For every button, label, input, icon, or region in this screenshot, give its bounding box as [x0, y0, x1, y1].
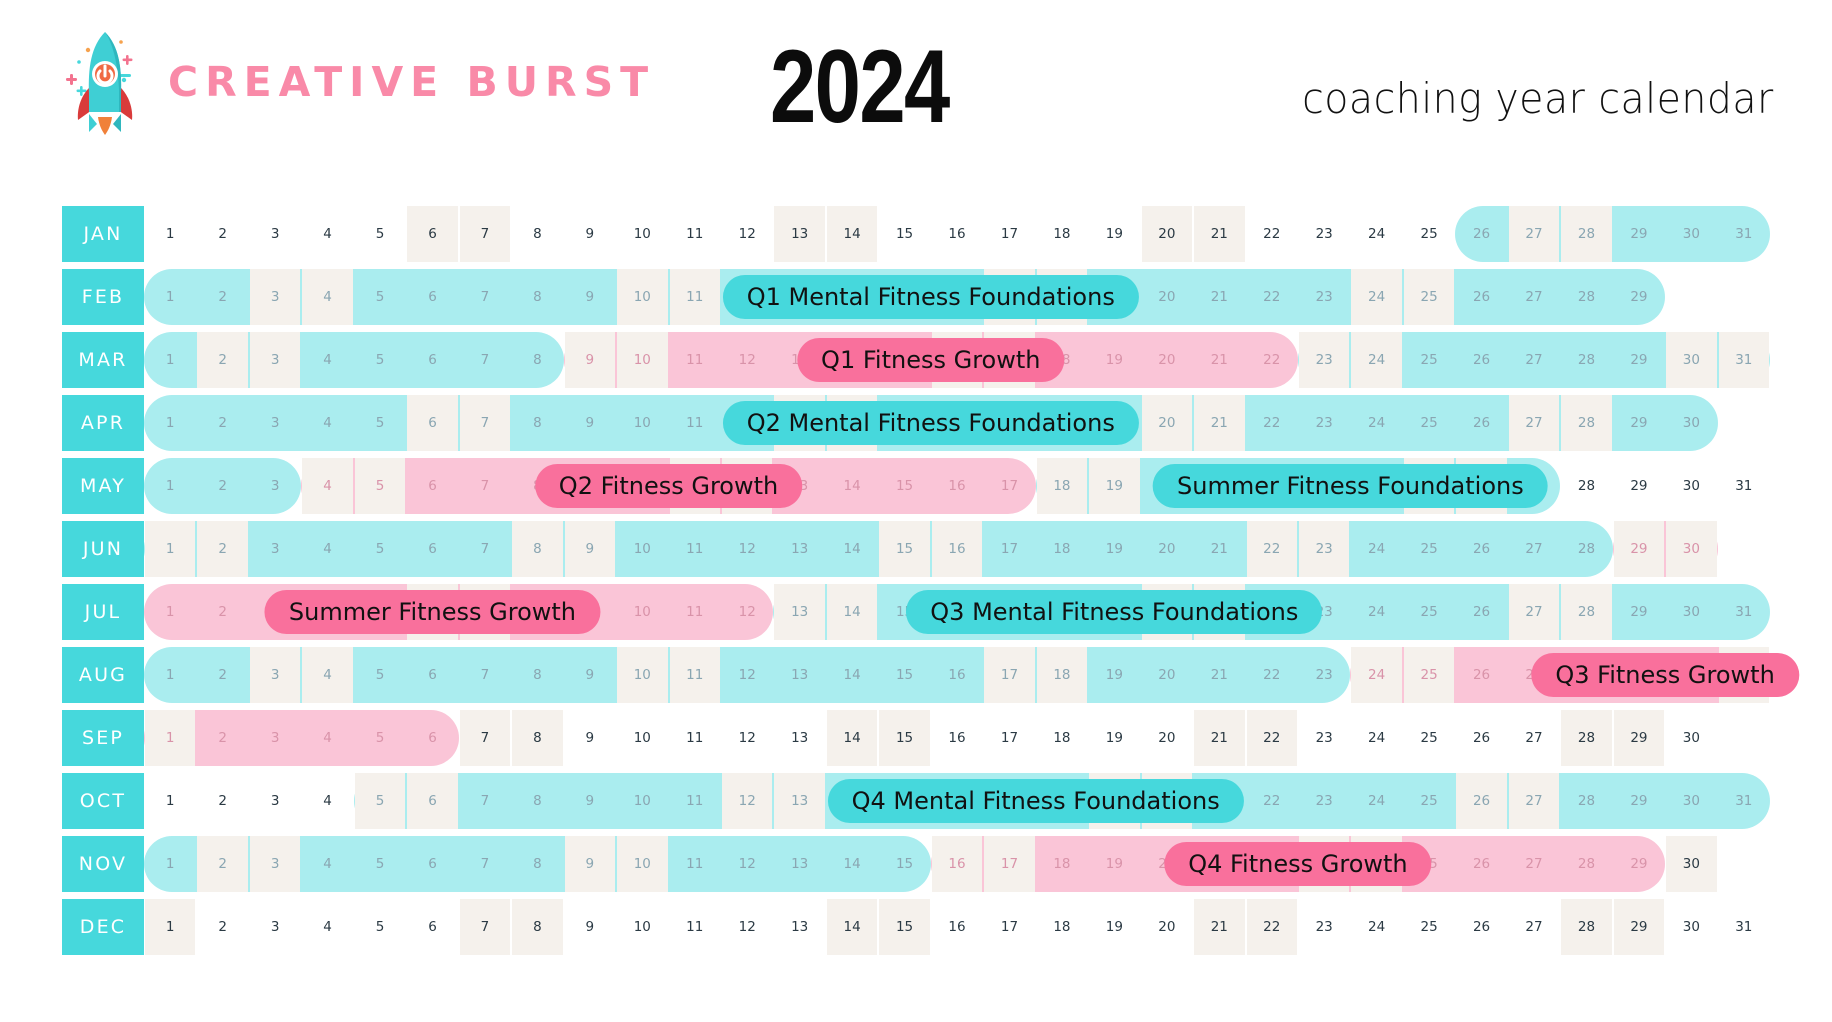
day-cell[interactable]: 2 — [196, 269, 248, 325]
day-cell[interactable]: 15 — [878, 521, 930, 577]
day-cell[interactable]: 7 — [459, 647, 511, 703]
day-cell[interactable]: 23 — [1298, 647, 1350, 703]
day-cell[interactable]: 8 — [511, 899, 563, 955]
day-cell[interactable]: 9 — [564, 395, 616, 451]
day-cell[interactable]: 19 — [1088, 458, 1140, 514]
day-cell[interactable]: 26 — [1455, 773, 1507, 829]
day-cell[interactable]: 15 — [878, 458, 930, 514]
day-cell[interactable]: 3 — [249, 206, 301, 262]
day-cell[interactable]: 25 — [1403, 647, 1455, 703]
day-cell[interactable]: 11 — [669, 899, 721, 955]
day-cell[interactable]: 14 — [826, 458, 878, 514]
day-cell[interactable]: 26 — [1455, 206, 1507, 262]
day-cell[interactable]: 9 — [564, 206, 616, 262]
day-cell[interactable]: 30 — [1665, 521, 1717, 577]
day-cell[interactable]: 15 — [878, 206, 930, 262]
day-cell[interactable]: 6 — [406, 521, 458, 577]
day-cell[interactable]: 28 — [1560, 458, 1612, 514]
day-cell[interactable]: 26 — [1455, 836, 1507, 892]
day-cell[interactable]: 3 — [249, 647, 301, 703]
day-cell[interactable]: 4 — [301, 710, 353, 766]
month-label-feb[interactable]: FEB — [62, 269, 144, 325]
day-cell[interactable]: 6 — [406, 710, 458, 766]
day-cell[interactable]: 22 — [1246, 899, 1298, 955]
day-cell[interactable]: 5 — [354, 836, 406, 892]
day-cell[interactable]: 29 — [1613, 836, 1665, 892]
day-cell[interactable]: 29 — [1613, 269, 1665, 325]
month-label-jul[interactable]: JUL — [62, 584, 144, 640]
day-cell[interactable]: 11 — [669, 395, 721, 451]
day-cell[interactable]: 30 — [1665, 836, 1717, 892]
day-cell[interactable]: 13 — [773, 899, 825, 955]
day-cell[interactable]: 24 — [1350, 269, 1402, 325]
day-cell[interactable]: 6 — [406, 836, 458, 892]
day-cell[interactable]: 2 — [196, 647, 248, 703]
day-cell[interactable]: 16 — [931, 710, 983, 766]
day-cell[interactable]: 4 — [301, 899, 353, 955]
day-cell[interactable]: 24 — [1350, 647, 1402, 703]
day-cell[interactable]: 21 — [1193, 647, 1245, 703]
day-cell[interactable]: 7 — [459, 521, 511, 577]
day-cell[interactable]: 28 — [1560, 521, 1612, 577]
day-cell[interactable]: 2 — [196, 521, 248, 577]
day-cell[interactable]: 7 — [459, 269, 511, 325]
day-cell[interactable]: 18 — [1036, 206, 1088, 262]
day-cell[interactable]: 23 — [1298, 332, 1350, 388]
day-cell[interactable]: 5 — [354, 206, 406, 262]
day-cell[interactable]: 20 — [1141, 269, 1193, 325]
day-cell[interactable]: 6 — [406, 206, 458, 262]
day-cell[interactable]: 29 — [1613, 899, 1665, 955]
day-cell[interactable]: 1 — [144, 647, 196, 703]
day-cell[interactable]: 1 — [144, 836, 196, 892]
day-cell[interactable]: 7 — [459, 395, 511, 451]
day-cell[interactable]: 19 — [1088, 899, 1140, 955]
day-cell[interactable]: 8 — [511, 836, 563, 892]
day-cell[interactable]: 29 — [1613, 395, 1665, 451]
day-cell[interactable]: 9 — [564, 521, 616, 577]
day-cell[interactable]: 16 — [931, 458, 983, 514]
day-cell[interactable]: 18 — [1036, 899, 1088, 955]
day-cell[interactable]: 2 — [196, 584, 248, 640]
day-cell[interactable]: 5 — [354, 773, 406, 829]
day-cell[interactable]: 1 — [144, 395, 196, 451]
day-cell[interactable]: 10 — [616, 521, 668, 577]
day-cell[interactable]: 27 — [1508, 332, 1560, 388]
day-cell[interactable]: 19 — [1088, 647, 1140, 703]
day-cell[interactable]: 8 — [511, 395, 563, 451]
day-cell[interactable]: 8 — [511, 521, 563, 577]
day-cell[interactable]: 17 — [983, 521, 1035, 577]
day-cell[interactable]: 11 — [669, 836, 721, 892]
day-cell[interactable]: 16 — [931, 647, 983, 703]
day-cell[interactable]: 10 — [616, 332, 668, 388]
day-cell[interactable]: 20 — [1141, 647, 1193, 703]
day-cell[interactable]: 8 — [511, 647, 563, 703]
day-cell[interactable]: 10 — [616, 395, 668, 451]
day-cell[interactable]: 10 — [616, 206, 668, 262]
day-cell[interactable]: 21 — [1193, 395, 1245, 451]
day-cell[interactable]: 13 — [773, 773, 825, 829]
day-cell[interactable]: 28 — [1560, 269, 1612, 325]
day-cell[interactable]: 24 — [1350, 584, 1402, 640]
day-cell[interactable]: 9 — [564, 899, 616, 955]
day-cell[interactable]: 4 — [301, 269, 353, 325]
day-cell[interactable]: 19 — [1088, 206, 1140, 262]
day-cell[interactable]: 26 — [1455, 269, 1507, 325]
day-cell[interactable]: 31 — [1718, 458, 1770, 514]
day-cell[interactable]: 24 — [1350, 521, 1402, 577]
day-cell[interactable]: 22 — [1246, 332, 1298, 388]
day-cell[interactable]: 3 — [249, 521, 301, 577]
day-cell[interactable]: 20 — [1141, 521, 1193, 577]
day-cell[interactable]: 23 — [1298, 206, 1350, 262]
day-cell[interactable]: 19 — [1088, 332, 1140, 388]
day-cell[interactable]: 23 — [1298, 269, 1350, 325]
day-cell[interactable]: 9 — [564, 647, 616, 703]
day-cell[interactable]: 2 — [196, 773, 248, 829]
day-cell[interactable]: 18 — [1036, 710, 1088, 766]
day-cell[interactable]: 14 — [826, 521, 878, 577]
day-cell[interactable]: 10 — [616, 584, 668, 640]
day-cell[interactable]: 16 — [931, 836, 983, 892]
day-cell[interactable]: 15 — [878, 647, 930, 703]
day-cell[interactable]: 18 — [1036, 836, 1088, 892]
day-cell[interactable]: 2 — [196, 206, 248, 262]
day-cell[interactable]: 5 — [354, 710, 406, 766]
day-cell[interactable]: 29 — [1613, 206, 1665, 262]
day-cell[interactable]: 8 — [511, 773, 563, 829]
day-cell[interactable]: 5 — [354, 647, 406, 703]
month-label-jun[interactable]: JUN — [62, 521, 144, 577]
day-cell[interactable]: 7 — [459, 206, 511, 262]
day-cell[interactable]: 1 — [144, 332, 196, 388]
day-cell[interactable]: 23 — [1298, 710, 1350, 766]
day-cell[interactable]: 30 — [1665, 206, 1717, 262]
day-cell[interactable]: 25 — [1403, 332, 1455, 388]
month-label-jan[interactable]: JAN — [62, 206, 144, 262]
day-cell[interactable]: 12 — [721, 899, 773, 955]
day-cell[interactable]: 6 — [406, 269, 458, 325]
day-cell[interactable]: 9 — [564, 836, 616, 892]
day-cell[interactable]: 7 — [459, 836, 511, 892]
day-cell[interactable]: 8 — [511, 710, 563, 766]
day-cell[interactable]: 24 — [1350, 332, 1402, 388]
day-cell[interactable]: 7 — [459, 458, 511, 514]
day-cell[interactable]: 25 — [1403, 899, 1455, 955]
day-cell[interactable]: 14 — [826, 206, 878, 262]
day-cell[interactable]: 24 — [1350, 206, 1402, 262]
day-cell[interactable]: 16 — [931, 206, 983, 262]
day-cell[interactable]: 25 — [1403, 773, 1455, 829]
day-cell[interactable]: 21 — [1193, 269, 1245, 325]
day-cell[interactable]: 16 — [931, 521, 983, 577]
day-cell[interactable]: 29 — [1613, 584, 1665, 640]
day-cell[interactable]: 20 — [1141, 710, 1193, 766]
day-cell[interactable]: 1 — [144, 773, 196, 829]
day-cell[interactable]: 4 — [301, 836, 353, 892]
day-cell[interactable]: 2 — [196, 836, 248, 892]
day-cell[interactable]: 3 — [249, 458, 301, 514]
day-cell[interactable]: 28 — [1560, 332, 1612, 388]
day-cell[interactable]: 18 — [1036, 521, 1088, 577]
day-cell[interactable]: 23 — [1298, 773, 1350, 829]
day-cell[interactable]: 27 — [1508, 710, 1560, 766]
day-cell[interactable]: 3 — [249, 710, 301, 766]
day-cell[interactable]: 21 — [1193, 710, 1245, 766]
day-cell[interactable]: 28 — [1560, 773, 1612, 829]
day-cell[interactable]: 30 — [1665, 899, 1717, 955]
day-cell[interactable]: 15 — [878, 899, 930, 955]
day-cell[interactable]: 1 — [144, 710, 196, 766]
day-cell[interactable]: 25 — [1403, 206, 1455, 262]
day-cell[interactable]: 9 — [564, 332, 616, 388]
day-cell[interactable]: 28 — [1560, 836, 1612, 892]
day-cell[interactable]: 13 — [773, 521, 825, 577]
day-cell[interactable]: 19 — [1088, 710, 1140, 766]
day-cell[interactable]: 25 — [1403, 584, 1455, 640]
day-cell[interactable]: 24 — [1350, 773, 1402, 829]
day-cell[interactable]: 5 — [354, 458, 406, 514]
event-pill[interactable]: Q4 Fitness Growth — [1164, 842, 1431, 886]
day-cell[interactable]: 12 — [721, 332, 773, 388]
day-cell[interactable]: 4 — [301, 458, 353, 514]
day-cell[interactable]: 17 — [983, 899, 1035, 955]
day-cell[interactable]: 12 — [721, 584, 773, 640]
day-cell[interactable]: 23 — [1298, 899, 1350, 955]
day-cell[interactable]: 12 — [721, 206, 773, 262]
day-cell[interactable]: 20 — [1141, 332, 1193, 388]
day-cell[interactable]: 24 — [1350, 395, 1402, 451]
event-pill[interactable]: Q1 Mental Fitness Foundations — [723, 275, 1139, 319]
day-cell[interactable]: 13 — [773, 836, 825, 892]
day-cell[interactable]: 7 — [459, 773, 511, 829]
day-cell[interactable]: 3 — [249, 899, 301, 955]
day-cell[interactable]: 25 — [1403, 710, 1455, 766]
day-cell[interactable]: 1 — [144, 899, 196, 955]
day-cell[interactable]: 30 — [1665, 458, 1717, 514]
day-cell[interactable]: 11 — [669, 269, 721, 325]
month-label-dec[interactable]: DEC — [62, 899, 144, 955]
day-cell[interactable]: 26 — [1455, 584, 1507, 640]
day-cell[interactable]: 3 — [249, 395, 301, 451]
day-cell[interactable]: 30 — [1665, 332, 1717, 388]
day-cell[interactable]: 31 — [1718, 584, 1770, 640]
event-pill[interactable]: Q3 Mental Fitness Foundations — [906, 590, 1322, 634]
day-cell[interactable]: 6 — [406, 647, 458, 703]
day-cell[interactable]: 30 — [1665, 710, 1717, 766]
day-cell[interactable]: 30 — [1665, 584, 1717, 640]
day-cell[interactable]: 4 — [301, 206, 353, 262]
day-cell[interactable]: 14 — [826, 584, 878, 640]
event-pill[interactable]: Q2 Fitness Growth — [535, 464, 802, 508]
day-cell[interactable]: 1 — [144, 269, 196, 325]
day-cell[interactable]: 20 — [1141, 899, 1193, 955]
day-cell[interactable]: 4 — [301, 332, 353, 388]
day-cell[interactable]: 28 — [1560, 395, 1612, 451]
day-cell[interactable]: 4 — [301, 773, 353, 829]
day-cell[interactable]: 5 — [354, 899, 406, 955]
day-cell[interactable]: 14 — [826, 647, 878, 703]
day-cell[interactable]: 26 — [1455, 710, 1507, 766]
day-cell[interactable]: 12 — [721, 647, 773, 703]
day-cell[interactable]: 22 — [1246, 269, 1298, 325]
day-cell[interactable]: 6 — [406, 332, 458, 388]
day-cell[interactable]: 16 — [931, 899, 983, 955]
day-cell[interactable]: 7 — [459, 899, 511, 955]
day-cell[interactable]: 22 — [1246, 395, 1298, 451]
day-cell[interactable]: 17 — [983, 458, 1035, 514]
day-cell[interactable]: 27 — [1508, 206, 1560, 262]
day-cell[interactable]: 7 — [459, 710, 511, 766]
day-cell[interactable]: 21 — [1193, 521, 1245, 577]
day-cell[interactable]: 11 — [669, 584, 721, 640]
day-cell[interactable]: 1 — [144, 584, 196, 640]
day-cell[interactable]: 4 — [301, 521, 353, 577]
day-cell[interactable]: 14 — [826, 899, 878, 955]
day-cell[interactable]: 7 — [459, 332, 511, 388]
month-label-nov[interactable]: NOV — [62, 836, 144, 892]
day-cell[interactable]: 9 — [564, 269, 616, 325]
day-cell[interactable]: 8 — [511, 206, 563, 262]
day-cell[interactable]: 26 — [1455, 521, 1507, 577]
day-cell[interactable]: 18 — [1036, 647, 1088, 703]
day-cell[interactable]: 6 — [406, 395, 458, 451]
day-cell[interactable]: 3 — [249, 332, 301, 388]
day-cell[interactable]: 10 — [616, 773, 668, 829]
day-cell[interactable]: 12 — [721, 521, 773, 577]
day-cell[interactable]: 29 — [1613, 521, 1665, 577]
day-cell[interactable]: 10 — [616, 647, 668, 703]
day-cell[interactable]: 22 — [1246, 206, 1298, 262]
day-cell[interactable]: 21 — [1193, 332, 1245, 388]
day-cell[interactable]: 17 — [983, 836, 1035, 892]
day-cell[interactable]: 10 — [616, 269, 668, 325]
day-cell[interactable]: 11 — [669, 647, 721, 703]
day-cell[interactable]: 9 — [564, 773, 616, 829]
day-cell[interactable]: 17 — [983, 647, 1035, 703]
day-cell[interactable]: 29 — [1613, 332, 1665, 388]
day-cell[interactable]: 22 — [1246, 647, 1298, 703]
day-cell[interactable]: 3 — [249, 836, 301, 892]
day-cell[interactable]: 22 — [1246, 521, 1298, 577]
day-cell[interactable]: 8 — [511, 269, 563, 325]
day-cell[interactable]: 1 — [144, 458, 196, 514]
day-cell[interactable]: 13 — [773, 710, 825, 766]
day-cell[interactable]: 18 — [1036, 458, 1088, 514]
day-cell[interactable]: 4 — [301, 395, 353, 451]
day-cell[interactable]: 1 — [144, 521, 196, 577]
day-cell[interactable]: 28 — [1560, 206, 1612, 262]
day-cell[interactable]: 5 — [354, 395, 406, 451]
day-cell[interactable]: 17 — [983, 206, 1035, 262]
day-cell[interactable]: 25 — [1403, 269, 1455, 325]
day-cell[interactable]: 10 — [616, 899, 668, 955]
day-cell[interactable]: 24 — [1350, 899, 1402, 955]
day-cell[interactable]: 5 — [354, 269, 406, 325]
day-cell[interactable]: 31 — [1718, 332, 1770, 388]
day-cell[interactable]: 21 — [1193, 899, 1245, 955]
day-cell[interactable]: 27 — [1508, 836, 1560, 892]
day-cell[interactable]: 11 — [669, 332, 721, 388]
day-cell[interactable]: 19 — [1088, 836, 1140, 892]
day-cell[interactable]: 5 — [354, 521, 406, 577]
day-cell[interactable]: 26 — [1455, 395, 1507, 451]
day-cell[interactable]: 27 — [1508, 269, 1560, 325]
day-cell[interactable]: 11 — [669, 521, 721, 577]
day-cell[interactable]: 14 — [826, 710, 878, 766]
day-cell[interactable]: 6 — [406, 458, 458, 514]
event-pill[interactable]: Q1 Fitness Growth — [797, 338, 1064, 382]
event-pill[interactable]: Q2 Mental Fitness Foundations — [723, 401, 1139, 445]
day-cell[interactable]: 3 — [249, 269, 301, 325]
day-cell[interactable]: 23 — [1298, 395, 1350, 451]
day-cell[interactable]: 26 — [1455, 647, 1507, 703]
day-cell[interactable]: 10 — [616, 836, 668, 892]
event-pill[interactable]: Summer Fitness Growth — [265, 590, 600, 634]
month-label-apr[interactable]: APR — [62, 395, 144, 451]
day-cell[interactable]: 20 — [1141, 395, 1193, 451]
day-cell[interactable]: 2 — [196, 395, 248, 451]
event-pill[interactable]: Summer Fitness Foundations — [1153, 464, 1548, 508]
day-cell[interactable]: 9 — [564, 710, 616, 766]
day-cell[interactable]: 27 — [1508, 521, 1560, 577]
day-cell[interactable]: 17 — [983, 710, 1035, 766]
day-cell[interactable]: 12 — [721, 773, 773, 829]
day-cell[interactable]: 2 — [196, 332, 248, 388]
day-cell[interactable]: 3 — [249, 773, 301, 829]
month-label-oct[interactable]: OCT — [62, 773, 144, 829]
day-cell[interactable]: 29 — [1613, 458, 1665, 514]
day-cell[interactable]: 4 — [301, 647, 353, 703]
day-cell[interactable]: 21 — [1193, 206, 1245, 262]
day-cell[interactable]: 15 — [878, 836, 930, 892]
day-cell[interactable]: 28 — [1560, 710, 1612, 766]
day-cell[interactable]: 29 — [1613, 773, 1665, 829]
day-cell[interactable]: 31 — [1718, 773, 1770, 829]
day-cell[interactable]: 27 — [1508, 899, 1560, 955]
day-cell[interactable]: 27 — [1508, 584, 1560, 640]
day-cell[interactable]: 23 — [1298, 521, 1350, 577]
day-cell[interactable]: 22 — [1246, 773, 1298, 829]
day-cell[interactable]: 14 — [826, 836, 878, 892]
day-cell[interactable]: 19 — [1088, 521, 1140, 577]
day-cell[interactable]: 20 — [1141, 206, 1193, 262]
event-pill[interactable]: Q4 Mental Fitness Foundations — [828, 779, 1244, 823]
day-cell[interactable]: 27 — [1508, 773, 1560, 829]
day-cell[interactable]: 25 — [1403, 521, 1455, 577]
month-label-aug[interactable]: AUG — [62, 647, 144, 703]
day-cell[interactable]: 26 — [1455, 332, 1507, 388]
day-cell[interactable]: 31 — [1718, 206, 1770, 262]
day-cell[interactable]: 5 — [354, 332, 406, 388]
day-cell[interactable]: 2 — [196, 899, 248, 955]
day-cell[interactable]: 28 — [1560, 584, 1612, 640]
month-label-sep[interactable]: SEP — [62, 710, 144, 766]
event-pill[interactable]: Q3 Fitness Growth — [1531, 653, 1798, 697]
day-cell[interactable]: 11 — [669, 710, 721, 766]
day-cell[interactable]: 10 — [616, 710, 668, 766]
day-cell[interactable]: 29 — [1613, 710, 1665, 766]
day-cell[interactable]: 6 — [406, 773, 458, 829]
day-cell[interactable]: 25 — [1403, 395, 1455, 451]
day-cell[interactable]: 13 — [773, 647, 825, 703]
month-label-mar[interactable]: MAR — [62, 332, 144, 388]
day-cell[interactable]: 27 — [1508, 395, 1560, 451]
day-cell[interactable]: 28 — [1560, 899, 1612, 955]
day-cell[interactable]: 11 — [669, 773, 721, 829]
day-cell[interactable]: 1 — [144, 206, 196, 262]
